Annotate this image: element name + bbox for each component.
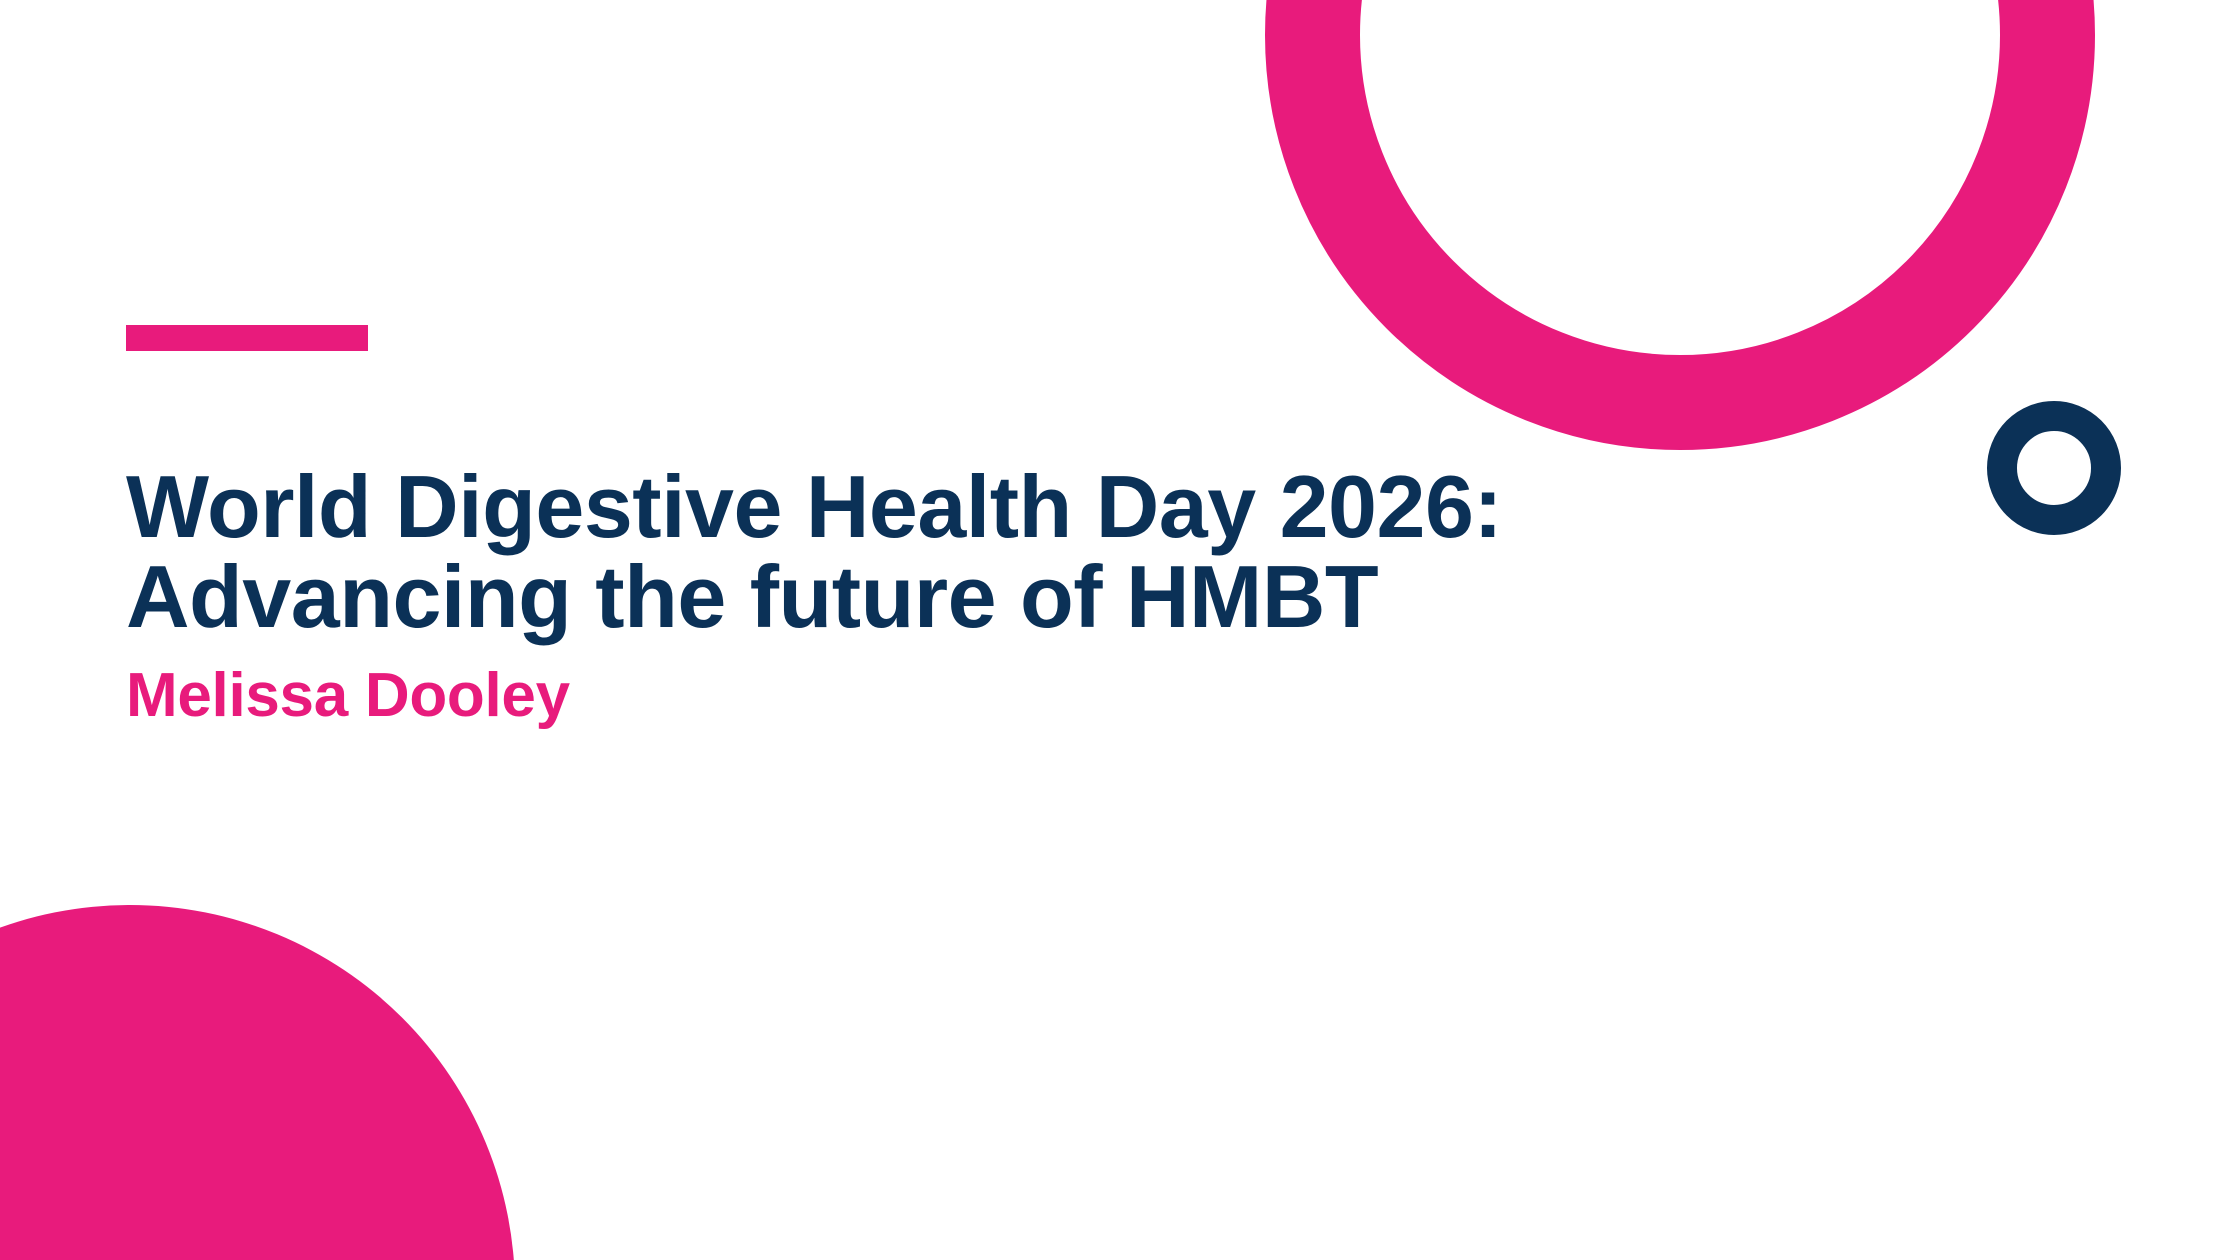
pink-circle-decoration — [0, 905, 515, 1260]
page-title: World Digestive Health Day 2026: Advanci… — [126, 462, 2006, 642]
author-name: Melissa Dooley — [126, 642, 2006, 730]
title-slide: World Digestive Health Day 2026: Advanci… — [0, 0, 2240, 1260]
title-text-block: World Digestive Health Day 2026: Advanci… — [126, 462, 2006, 730]
large-pink-ring-decoration — [1265, 0, 2095, 450]
small-navy-ring-decoration — [1987, 401, 2121, 535]
accent-bar-decoration — [126, 325, 368, 351]
